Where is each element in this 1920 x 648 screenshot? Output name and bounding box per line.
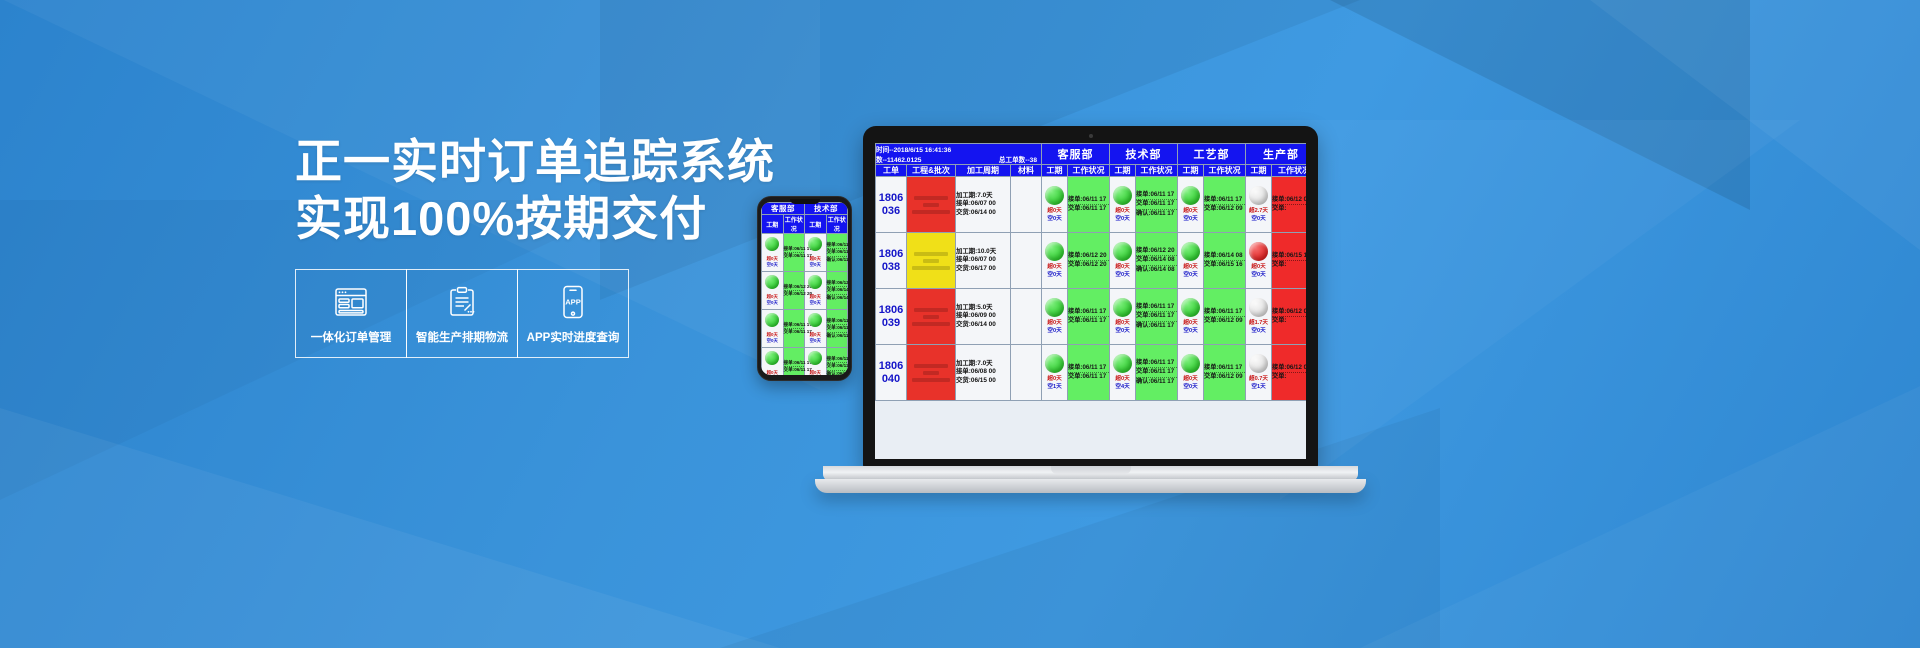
status-line: 接单:06/11 17 <box>1136 191 1177 199</box>
badge-idle: 空4天 <box>1110 383 1135 391</box>
order-tracking-table: 时间--2018/6/15 16:41:36 数--11462.0125 总工单… <box>875 143 1306 401</box>
badge-idle: 空0天 <box>1110 271 1135 279</box>
badge-overdue: 超0天 <box>1110 263 1135 271</box>
table-row[interactable]: 1806036加工期:7.0天接单:06/07 00交货:06/14 00超0天… <box>876 177 1307 233</box>
status-line: 接单:06/12 20 <box>827 280 848 286</box>
status-line: 接单:06/11 17 <box>1204 364 1245 372</box>
badge-overdue: 超0天 <box>1178 319 1203 327</box>
status-line: 接单:06/12 20 <box>1136 247 1177 255</box>
headline-line-1: 正一实时订单追踪系统 <box>295 133 935 190</box>
phone-screen[interactable]: 客服部 技术部 工期 工作状况 工期 工作状况 超0天空0天接单:06/11 1… <box>761 202 848 375</box>
status-line: 接单:06/12 20 <box>784 284 805 290</box>
status-line: 接单:06/11 17 <box>827 356 848 362</box>
bg-facet <box>0 408 780 648</box>
total-orders: 总工单数--38 <box>999 154 1037 164</box>
feature-smart-scheduling[interactable]: 智能生产排期物流 <box>406 269 518 358</box>
status-dot-green <box>1045 298 1064 317</box>
window-layout-icon <box>334 282 368 322</box>
cell-duration-技术部: 超0天空0天 <box>1110 289 1136 345</box>
wo-prefix: 1806 <box>876 192 906 205</box>
badge-idle: 空0天 <box>1110 215 1135 223</box>
cell-work-status-技术部: 接单:06/12 20交单:06/14 08确认:06/14 08 <box>1136 233 1178 289</box>
cell-work-status-生产部: 接单:06/12 09交单: <box>1272 177 1306 233</box>
status-dot-green <box>808 313 822 327</box>
badge-overdue: 超0天 <box>1178 207 1203 215</box>
cell-project-batch <box>907 289 956 345</box>
status-line: 接单:06/11 17 <box>1136 359 1177 367</box>
status-line: 接单:06/11 17 <box>1068 308 1109 316</box>
col-work-status: 工作状况 <box>1068 165 1110 177</box>
status-dot-green <box>765 275 779 289</box>
phone-table-row[interactable]: 超0天空0天接单:06/11 17交单:06/11 17超0天空0天接单:06/… <box>762 234 848 272</box>
status-dot-green <box>1181 298 1200 317</box>
status-line: 确认:06/11 17 <box>1136 209 1177 218</box>
cell-work-status-生产部: 接单:06/12 09交单: <box>1272 345 1306 401</box>
feature-label: 智能生产排期物流 <box>416 329 508 345</box>
meta-cell: 时间--2018/6/15 16:41:36 数--11462.0125 总工单… <box>876 144 1042 165</box>
status-line: 交单:06/11 17 <box>784 366 805 373</box>
status-line: 交单:06/11 17 <box>827 324 848 331</box>
status-line: 交单: <box>1272 204 1306 213</box>
phone-cell-status-cs: 接单:06/11 17交单:06/11 17 <box>783 348 805 376</box>
status-dot-green <box>808 237 822 251</box>
phone-dept-customer-service: 客服部 <box>762 203 805 215</box>
badge-idle: 空0天 <box>1246 271 1271 279</box>
badge-overdue: 超0天 <box>1246 263 1271 271</box>
phone-cell-duration-tech: 超0天空0天 <box>805 310 827 348</box>
col-work-status: 工作状况 <box>1272 165 1306 177</box>
dept-header-technology: 技术部 <box>1110 144 1178 165</box>
badge-idle: 空0天 <box>805 262 826 268</box>
badge-overdue: 超0天 <box>1110 375 1135 383</box>
table-body: 1806036加工期:7.0天接单:06/07 00交货:06/14 00超0天… <box>876 177 1307 401</box>
laptop-notch <box>1051 466 1131 474</box>
badge-idle: 空0天 <box>1246 215 1271 223</box>
status-line: 交单:06/14 08 <box>1136 255 1177 264</box>
cell-work-status-技术部: 接单:06/11 17交单:06/11 17确认:06/11 17 <box>1136 177 1178 233</box>
status-line: 接单:06/12 09 <box>1272 308 1306 316</box>
status-line: 接单:06/12 09 <box>1272 364 1306 372</box>
status-dot-green <box>1181 242 1200 261</box>
wo-suffix: 039 <box>876 317 906 330</box>
cell-work-order: 1806040 <box>876 345 907 401</box>
cell-project-batch <box>907 233 956 289</box>
cell-process-cycle: 加工期:5.0天接单:06/09 00交货:06/14 00 <box>956 289 1011 345</box>
cell-work-status-工艺部: 接单:06/11 17交单:06/12 09 <box>1204 289 1246 345</box>
phone-table-body: 超0天空0天接单:06/11 17交单:06/11 17超0天空0天接单:06/… <box>762 234 848 376</box>
status-line: 交单:06/11 17 <box>1068 316 1109 325</box>
wo-suffix: 036 <box>876 205 906 218</box>
laptop-screen[interactable]: 时间--2018/6/15 16:41:36 数--11462.0125 总工单… <box>875 143 1306 459</box>
promo-banner: 正一实时订单追踪系统 实现100%按期交付 <box>0 0 1920 648</box>
badge-idle: 空1天 <box>1042 383 1067 391</box>
cell-project-batch <box>907 177 956 233</box>
badge-overdue: 超0天 <box>1042 263 1067 271</box>
status-line: 交单: <box>1272 372 1306 381</box>
phone-cell-duration-tech: 超0天空0天 <box>805 272 827 310</box>
meta-header-row: 时间--2018/6/15 16:41:36 数--11462.0125 总工单… <box>876 144 1307 165</box>
badge-idle: 空0天 <box>1110 327 1135 335</box>
param-value: 数--11462.0125 <box>876 154 921 164</box>
status-line: 交单:06/11 17 <box>827 248 848 255</box>
status-dot-green <box>1045 186 1064 205</box>
status-dot-green <box>1181 354 1200 373</box>
status-dot-green <box>1113 298 1132 317</box>
cell-work-status-生产部: 接单:06/15 16交单: <box>1272 233 1306 289</box>
phone-cell-duration-tech: 超0天空0天 <box>805 234 827 272</box>
status-dot-grey <box>1249 354 1268 373</box>
cell-duration-技术部: 超0天空0天 <box>1110 233 1136 289</box>
cell-duration-工艺部: 超0天空0天 <box>1178 345 1204 401</box>
status-line: 接单:06/11 17 <box>827 242 848 248</box>
cell-duration-工艺部: 超0天空0天 <box>1178 233 1204 289</box>
phone-col-duration: 工期 <box>805 215 827 234</box>
laptop-mockup: 时间--2018/6/15 16:41:36 数--11462.0125 总工单… <box>863 126 1318 501</box>
cell-work-status-客服部: 接单:06/11 17交单:06/11 17 <box>1068 177 1110 233</box>
status-line: 接单:06/12 20 <box>1068 252 1109 260</box>
status-dot-green <box>1113 242 1132 261</box>
status-line: 确认:06/11 17 <box>827 256 848 263</box>
cell-work-status-工艺部: 接单:06/14 08交单:06/15 16 <box>1204 233 1246 289</box>
status-line: 交单:06/11 17 <box>784 252 805 259</box>
wo-prefix: 1806 <box>876 360 906 373</box>
status-line: 确认:06/14 08 <box>827 294 848 301</box>
laptop-lid: 时间--2018/6/15 16:41:36 数--11462.0125 总工单… <box>863 126 1318 470</box>
badge-overdue: 超0.7天 <box>1246 375 1271 383</box>
table-head: 时间--2018/6/15 16:41:36 数--11462.0125 总工单… <box>876 144 1307 177</box>
cell-material <box>1011 289 1042 345</box>
cell-work-status-客服部: 接单:06/11 17交单:06/11 17 <box>1068 289 1110 345</box>
phone-dept-header-row: 客服部 技术部 <box>762 203 848 215</box>
cell-duration-生产部: 超0天空0天 <box>1246 233 1272 289</box>
status-line: 接单:06/15 16 <box>1272 252 1306 260</box>
cell-process-cycle: 加工期:7.0天接单:06/08 00交货:06/15 00 <box>956 345 1011 401</box>
status-line: 交单:06/11 17 <box>1068 204 1109 213</box>
phone-col-duration: 工期 <box>762 215 784 234</box>
badge-overdue: 超0天 <box>1178 375 1203 383</box>
phone-table-row[interactable]: 超0天空1天接单:06/11 17交单:06/11 17超0天空4天接单:06/… <box>762 348 848 376</box>
phone-cell-status-tech: 接单:06/12 20交单:06/14 08确认:06/14 08 <box>826 272 848 310</box>
badge-overdue: 超0天 <box>1042 319 1067 327</box>
cell-work-status-客服部: 接单:06/12 20交单:06/12 20 <box>1068 233 1110 289</box>
cell-work-status-工艺部: 接单:06/11 17交单:06/12 09 <box>1204 177 1246 233</box>
badge-idle: 空0天 <box>762 262 783 268</box>
status-dot-green <box>808 275 822 289</box>
status-line: 交单:06/12 20 <box>784 290 805 297</box>
feature-label: APP实时进度查询 <box>527 329 620 345</box>
bg-facet <box>1590 0 1920 250</box>
cell-duration-生产部: 超2.7天空0天 <box>1246 177 1272 233</box>
status-line: 交单:06/11 17 <box>784 328 805 335</box>
laptop-base <box>815 479 1366 493</box>
badge-idle: 空0天 <box>762 300 783 306</box>
webcam-icon <box>1089 134 1093 138</box>
status-dot-grey <box>1249 186 1268 205</box>
status-line: 交单:06/12 09 <box>1204 372 1245 381</box>
cell-work-status-生产部: 接单:06/12 09交单: <box>1272 289 1306 345</box>
system-time: 时间--2018/6/15 16:41:36 <box>876 144 1041 154</box>
phone-notch <box>790 199 820 204</box>
cell-duration-生产部: 超0.7天空1天 <box>1246 345 1272 401</box>
status-line: 接单:06/11 17 <box>784 322 805 328</box>
app-icon-text: APP <box>565 297 581 306</box>
cell-duration-客服部: 超0天空1天 <box>1042 345 1068 401</box>
bg-facet <box>1330 0 1750 210</box>
col-project-batch: 工程&批次 <box>907 165 956 177</box>
col-work-order: 工单 <box>876 165 907 177</box>
cell-work-status-技术部: 接单:06/11 17交单:06/11 17确认:06/11 17 <box>1136 345 1178 401</box>
cell-duration-技术部: 超0天空0天 <box>1110 177 1136 233</box>
status-line: 确认:06/11 17 <box>1136 377 1177 386</box>
feature-app-progress[interactable]: APP APP实时进度查询 <box>517 269 629 358</box>
phone-cell-status-tech: 接单:06/11 17交单:06/11 17确认:06/11 17 <box>826 234 848 272</box>
status-dot-green <box>1045 354 1064 373</box>
phone-col-status: 工作状况 <box>826 215 848 234</box>
status-dot-green <box>1113 186 1132 205</box>
status-dot-green <box>765 351 779 365</box>
badge-idle: 空0天 <box>1246 327 1271 335</box>
badge-idle: 空1天 <box>1246 383 1271 391</box>
status-line: 接单:06/11 17 <box>1068 364 1109 372</box>
cell-process-cycle: 加工期:7.0天接单:06/07 00交货:06/14 00 <box>956 177 1011 233</box>
badge-overdue: 超0天 <box>1042 207 1067 215</box>
cell-duration-客服部: 超0天空0天 <box>1042 233 1068 289</box>
badge-idle: 空0天 <box>805 300 826 306</box>
status-line: 接单:06/11 17 <box>1136 303 1177 311</box>
dept-header-process: 工艺部 <box>1178 144 1246 165</box>
status-line: 交单:06/11 17 <box>1136 199 1177 208</box>
badge-idle: 空0天 <box>805 338 826 344</box>
phone-cell-status-cs: 接单:06/11 17交单:06/11 17 <box>783 234 805 272</box>
status-dot-green <box>1113 354 1132 373</box>
cell-duration-技术部: 超0天空4天 <box>1110 345 1136 401</box>
status-line: 接单:06/12 09 <box>1272 196 1306 204</box>
cell-work-status-技术部: 接单:06/11 17交单:06/11 17确认:06/11 17 <box>1136 289 1178 345</box>
col-work-status: 工作状况 <box>1136 165 1178 177</box>
feature-label: 一体化订单管理 <box>311 329 392 345</box>
status-line: 接单:06/14 08 <box>1204 252 1245 260</box>
badge-idle: 空0天 <box>1042 327 1067 335</box>
status-dot-red <box>1249 242 1268 261</box>
badge-overdue: 超0天 <box>1042 375 1067 383</box>
cell-duration-工艺部: 超0天空0天 <box>1178 289 1204 345</box>
table-row[interactable]: 1806039加工期:5.0天接单:06/09 00交货:06/14 00超0天… <box>876 289 1307 345</box>
badge-idle: 空0天 <box>1178 271 1203 279</box>
badge-idle: 空0天 <box>1178 383 1203 391</box>
status-line: 接单:06/11 17 <box>784 360 805 366</box>
dept-header-production: 生产部 <box>1246 144 1306 165</box>
phone-cell-status-cs: 接单:06/12 20交单:06/12 20 <box>783 272 805 310</box>
cell-duration-工艺部: 超0天空0天 <box>1178 177 1204 233</box>
badge-idle: 空0天 <box>1042 271 1067 279</box>
status-line: 交单:06/11 17 <box>827 362 848 369</box>
col-duration: 工期 <box>1178 165 1204 177</box>
phone-cell-duration-cs: 超0天空0天 <box>762 234 784 272</box>
status-line: 接单:06/11 17 <box>827 318 848 324</box>
status-line: 交单:06/12 09 <box>1204 204 1245 213</box>
badge-idle: 空0天 <box>1178 215 1203 223</box>
badge-overdue: 超1.7天 <box>1246 319 1271 327</box>
badge-overdue: 超0天 <box>1178 263 1203 271</box>
mobile-app-icon: APP <box>561 282 585 322</box>
table-row[interactable]: 1806040加工期:7.0天接单:06/08 00交货:06/15 00超0天… <box>876 345 1307 401</box>
cell-work-order: 1806036 <box>876 177 907 233</box>
badge-overdue: 超0天 <box>1110 207 1135 215</box>
phone-cell-duration-cs: 超0天空0天 <box>762 272 784 310</box>
phone-cell-status-tech: 接单:06/11 17交单:06/11 17确认:06/11 17 <box>826 348 848 376</box>
cell-project-batch <box>907 345 956 401</box>
badge-idle: 空0天 <box>762 338 783 344</box>
phone-dept-technology: 技术部 <box>805 203 848 215</box>
cell-work-status-客服部: 接单:06/11 17交单:06/11 17 <box>1068 345 1110 401</box>
status-line: 交单:06/15 16 <box>1204 260 1245 269</box>
col-work-status: 工作状况 <box>1204 165 1246 177</box>
phone-col-status: 工作状况 <box>783 215 805 234</box>
wo-prefix: 1806 <box>876 304 906 317</box>
cell-duration-生产部: 超1.7天空0天 <box>1246 289 1272 345</box>
cell-material <box>1011 345 1042 401</box>
status-dot-grey <box>1249 298 1268 317</box>
phone-table-row[interactable]: 超0天空0天接单:06/11 17交单:06/11 17超0天空0天接单:06/… <box>762 310 848 348</box>
col-duration: 工期 <box>1246 165 1272 177</box>
status-line: 交单:06/11 17 <box>1136 367 1177 376</box>
clipboard-pen-icon <box>447 282 477 322</box>
cell-work-order: 1806039 <box>876 289 907 345</box>
feature-order-management[interactable]: 一体化订单管理 <box>295 269 407 358</box>
status-line: 确认:06/11 17 <box>827 332 848 339</box>
status-line: 交单:06/11 17 <box>1136 311 1177 320</box>
status-line: 接单:06/11 17 <box>1204 308 1245 316</box>
status-dot-green <box>808 351 822 365</box>
wo-suffix: 038 <box>876 261 906 274</box>
status-line: 交单:06/14 08 <box>827 286 848 293</box>
phone-table-row[interactable]: 超0天空0天接单:06/12 20交单:06/12 20超0天空0天接单:06/… <box>762 272 848 310</box>
status-line: 确认:06/11 17 <box>1136 321 1177 330</box>
phone-table-head: 客服部 技术部 工期 工作状况 工期 工作状况 <box>762 203 848 234</box>
status-line: 交单:06/11 17 <box>1068 372 1109 381</box>
badge-idle: 空0天 <box>1178 327 1203 335</box>
phone-sub-header-row: 工期 工作状况 工期 工作状况 <box>762 215 848 234</box>
cell-material <box>1011 233 1042 289</box>
cell-material <box>1011 177 1042 233</box>
wo-prefix: 1806 <box>876 248 906 261</box>
col-duration: 工期 <box>1042 165 1068 177</box>
status-dot-green <box>765 313 779 327</box>
badge-overdue: 超2.7天 <box>1246 207 1271 215</box>
status-dot-green <box>1181 186 1200 205</box>
status-line: 确认:06/14 08 <box>1136 265 1177 274</box>
phone-cell-status-tech: 接单:06/11 17交单:06/11 17确认:06/11 17 <box>826 310 848 348</box>
status-dot-green <box>1045 242 1064 261</box>
table-row[interactable]: 1806038加工期:10.0天接单:06/07 00交货:06/17 00超0… <box>876 233 1307 289</box>
column-header-row: 工单 工程&批次 加工周期 材料 工期 工作状况 工期 工作状况 工期 工作状况… <box>876 165 1307 177</box>
status-line: 接单:06/11 17 <box>1204 196 1245 204</box>
cell-process-cycle: 加工期:10.0天接单:06/07 00交货:06/17 00 <box>956 233 1011 289</box>
cell-duration-客服部: 超0天空0天 <box>1042 177 1068 233</box>
status-line: 交单: <box>1272 260 1306 269</box>
phone-cell-status-cs: 接单:06/11 17交单:06/11 17 <box>783 310 805 348</box>
phone-mockup: 客服部 技术部 工期 工作状况 工期 工作状况 超0天空0天接单:06/11 1… <box>757 196 852 381</box>
wo-suffix: 040 <box>876 373 906 386</box>
bg-facet <box>1280 120 1800 500</box>
phone-cell-duration-cs: 超0天空1天 <box>762 348 784 376</box>
cell-work-status-工艺部: 接单:06/11 17交单:06/12 09 <box>1204 345 1246 401</box>
bg-facet <box>1360 358 1920 648</box>
badge-overdue: 超0天 <box>1110 319 1135 327</box>
status-line: 接单:06/11 17 <box>1068 196 1109 204</box>
dept-header-customer-service: 客服部 <box>1042 144 1110 165</box>
status-line: 交单:06/12 20 <box>1068 260 1109 269</box>
col-duration: 工期 <box>1110 165 1136 177</box>
status-dot-green <box>765 237 779 251</box>
status-line: 交单: <box>1272 316 1306 325</box>
phone-dashboard-table: 客服部 技术部 工期 工作状况 工期 工作状况 超0天空0天接单:06/11 1… <box>761 202 848 375</box>
status-line: 接单:06/11 17 <box>784 246 805 252</box>
cell-duration-客服部: 超0天空0天 <box>1042 289 1068 345</box>
badge-idle: 空0天 <box>1042 215 1067 223</box>
col-material: 材料 <box>1011 165 1042 177</box>
status-line: 交单:06/12 09 <box>1204 316 1245 325</box>
col-process-cycle: 加工周期 <box>956 165 1011 177</box>
phone-cell-duration-cs: 超0天空0天 <box>762 310 784 348</box>
cell-work-order: 1806038 <box>876 233 907 289</box>
